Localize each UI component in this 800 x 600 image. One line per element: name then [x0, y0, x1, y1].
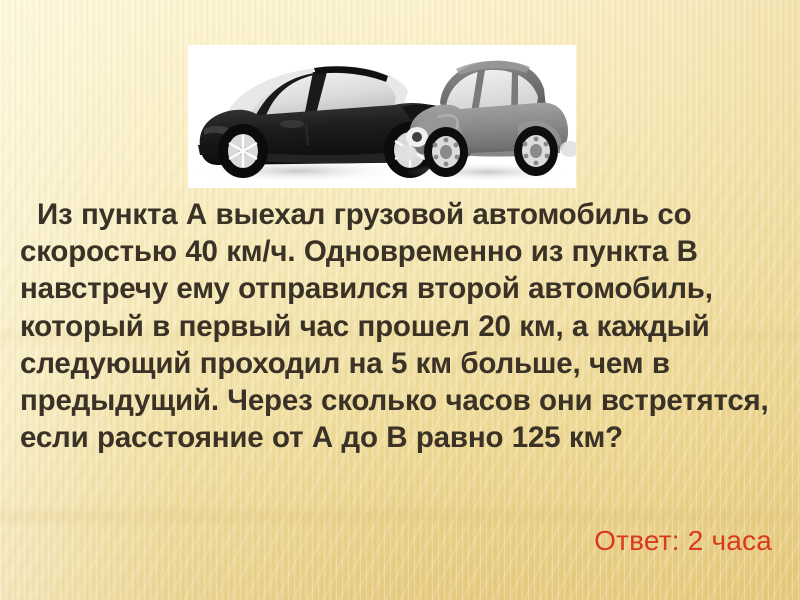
- problem-statement-text: Из пункта А выехал грузовой автомобиль с…: [20, 196, 788, 456]
- wheel-front: [218, 124, 268, 178]
- cars-illustration-panel: [188, 45, 576, 188]
- slide-canvas: Из пункта А выехал грузовой автомобиль с…: [0, 0, 800, 600]
- answer-label: Ответ: 2 часа: [0, 524, 772, 558]
- wheel-rear: [514, 126, 558, 176]
- cars-illustration: [188, 45, 576, 188]
- wheel-front: [424, 127, 468, 177]
